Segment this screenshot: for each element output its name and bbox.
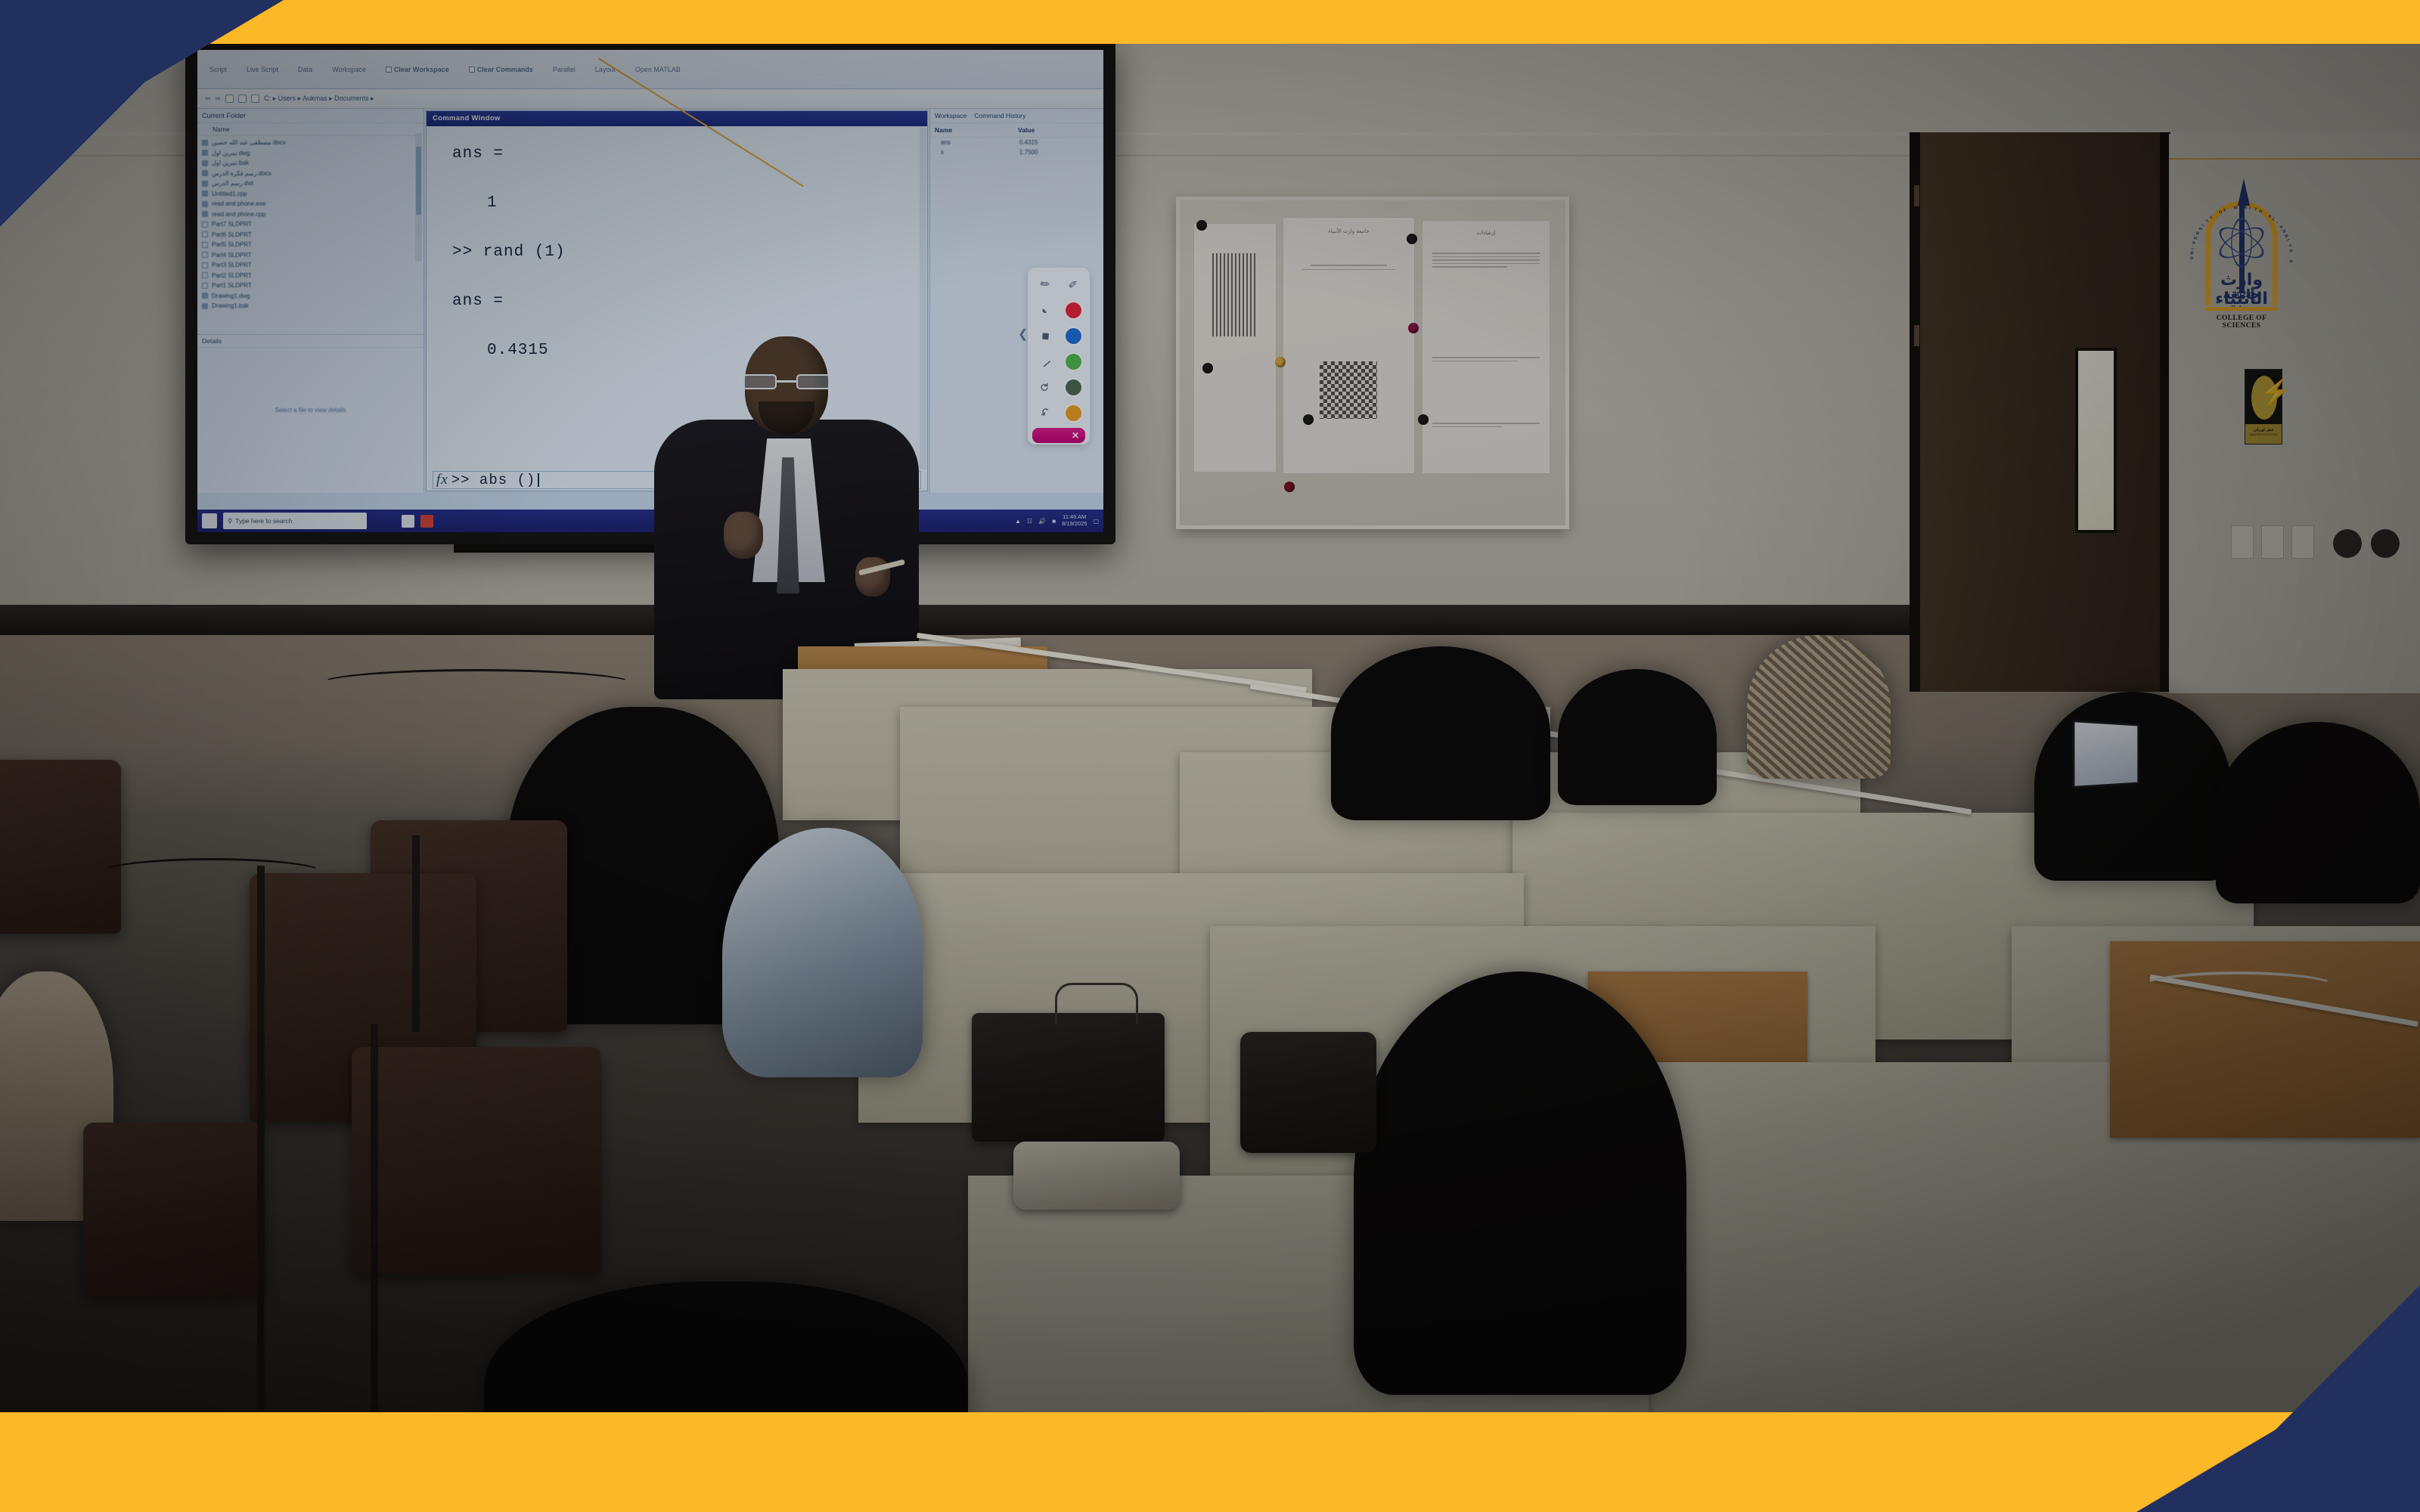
- logo-arc-char: O: [2218, 209, 2223, 215]
- file-name: Drawing1.dwg: [212, 293, 250, 299]
- university-logo: UNIVERSITY OF WARITH AL-ANBIYA A وارث ال…: [2197, 174, 2286, 336]
- highlighter-icon: ✏: [1065, 276, 1081, 293]
- poster-title: جامعة وارث الأنبياء: [1283, 228, 1414, 234]
- file-name: Part1 SLDPRT: [212, 282, 252, 289]
- file-row[interactable]: Part3 SLDPRT: [202, 260, 423, 271]
- details-title: Details: [197, 335, 423, 348]
- logo-arc-char: H: [2258, 209, 2263, 215]
- chair-leg: [371, 1024, 378, 1414]
- undo-icon: ↶: [1037, 404, 1053, 421]
- qr-code-graphic: [1320, 361, 1377, 419]
- magnet: [1284, 482, 1295, 492]
- poster-instructions: إرشادات: [1422, 220, 1550, 474]
- tissue-pack: [1013, 1142, 1180, 1210]
- logo-arc-char: I: [2201, 224, 2206, 228]
- whiteboard-with-posters: جامعة وارث الأنبياء إرشادات: [1176, 197, 1569, 529]
- instructor-hand-left: [724, 512, 763, 559]
- select-tool-button[interactable]: ⚊: [1032, 350, 1058, 373]
- logo-arc-char: S: [2198, 227, 2204, 231]
- column-name: Name: [935, 126, 1018, 134]
- poster-barcode: [1193, 223, 1277, 472]
- logo-pen-nib-icon: [2238, 178, 2250, 206]
- app-icon-matlab[interactable]: [420, 515, 433, 528]
- file-row[interactable]: Part4 SLDPRT: [202, 250, 423, 261]
- color-swatch-blue: [1066, 328, 1081, 344]
- magnet: [1408, 323, 1419, 333]
- barcode-graphic: [1212, 253, 1258, 336]
- file-icon: [202, 303, 208, 309]
- file-icon: [202, 242, 208, 248]
- magnet: [1418, 414, 1429, 425]
- frame-top-band: [0, 0, 2420, 44]
- search-icon: ⚲: [228, 517, 232, 525]
- shape-icon: ◆: [1038, 327, 1053, 343]
- bridge: [777, 380, 796, 383]
- logo-arc-char: A: [2238, 206, 2242, 210]
- file-icon: [202, 272, 208, 278]
- chair: [83, 1123, 265, 1297]
- workspace-row[interactable]: x 1.7500: [930, 147, 1103, 157]
- poster-canvas: Script Live Script Data Workspace Clear …: [0, 0, 2420, 1512]
- annotation-toolbar[interactable]: ❮ ✎ ✏ ◐ ◆ ⚊ ⟳ ↶ ✕: [1028, 268, 1090, 445]
- fx-icon[interactable]: fx: [436, 472, 448, 488]
- power-cable: [318, 669, 635, 820]
- door-hinge: [1914, 185, 1919, 206]
- color-swatch-darkgreen: [1066, 380, 1081, 395]
- tray-chevron-icon[interactable]: ▲: [1015, 518, 1021, 525]
- ribbon-item-parallel[interactable]: Parallel: [553, 66, 576, 73]
- lens-left: [742, 374, 777, 389]
- checkbox-icon: [386, 67, 392, 73]
- lens-right: [796, 374, 831, 389]
- checkbox-icon: [469, 67, 475, 73]
- system-tray[interactable]: ▲ ☷ 🔊 ■ 11:46 AM 8/19/2025 ▢: [1015, 514, 1099, 527]
- file-row[interactable]: read and phone.cpp: [202, 209, 423, 220]
- student-seated-scarf: [722, 828, 923, 1077]
- shape-tool-button[interactable]: ◆: [1032, 324, 1058, 347]
- text-line: [1432, 361, 1518, 362]
- student-seated: [1331, 646, 1550, 820]
- output-line: ans =: [452, 146, 927, 162]
- logo-arc-char: F: [2223, 208, 2227, 213]
- file-name: Drawing1.bak: [212, 302, 249, 309]
- logo-english-arc: UNIVERSITY OF WARITH AL-ANBIYA A: [2201, 209, 2282, 254]
- ribbon-item-clear-commands[interactable]: Clear Commands: [469, 66, 533, 73]
- color-orange-button[interactable]: [1060, 401, 1086, 424]
- annotation-tool-grid[interactable]: ✎ ✏ ◐ ◆ ⚊ ⟳ ↶: [1032, 273, 1085, 424]
- select-icon: ⚊: [1037, 353, 1053, 370]
- file-row[interactable]: Part5 SLDPRT: [202, 240, 423, 250]
- poster-text-lines: [1432, 253, 1539, 270]
- handbag-strap: [1055, 983, 1138, 1024]
- file-name: Part5 SLDPRT: [212, 241, 252, 248]
- start-button-icon[interactable]: [202, 513, 217, 528]
- lightning-bolt-icon: ⚡: [2260, 382, 2291, 404]
- highlighter-tool-button[interactable]: ✏: [1060, 273, 1086, 296]
- hazard-arabic: خطر كهربائي: [2245, 428, 2282, 432]
- workspace-tabs[interactable]: Workspace Command History: [930, 109, 1103, 123]
- classroom-door[interactable]: [1910, 132, 2170, 692]
- color-swatch-red: [1066, 302, 1081, 318]
- magnet: [1202, 363, 1213, 373]
- color-swatch-green: [1066, 354, 1081, 370]
- student-seated: [2034, 692, 2231, 881]
- student-laptop: [2072, 720, 2139, 789]
- logo-arc-char: R: [2195, 231, 2201, 236]
- file-name: Part4 SLDPRT: [212, 252, 252, 259]
- text-line: [1302, 269, 1395, 271]
- logo-arc-char: -: [2275, 221, 2279, 225]
- logo-college-name: COLLEGE OF SCIENCES: [2197, 314, 2286, 330]
- text-line: [1311, 265, 1388, 266]
- logo-arc-char: N: [2281, 229, 2286, 234]
- eyeglasses-icon: [742, 374, 831, 389]
- details-empty-message: Select a file to view details: [197, 407, 423, 414]
- workspace-columns[interactable]: Name Value: [930, 123, 1103, 138]
- student-seated: [1558, 669, 1717, 805]
- logo-arc-char: L: [2271, 217, 2276, 222]
- file-name: Part3 SLDPRT: [212, 262, 252, 268]
- taskbar-search-box[interactable]: ⚲ Type here to search: [223, 513, 367, 529]
- pen-tool-button[interactable]: ✎: [1032, 273, 1058, 296]
- undo-tool-button[interactable]: ↶: [1032, 401, 1058, 424]
- logo-arc-char: U: [2190, 256, 2195, 259]
- hazard-english: DANGER ELECTRIC: [2245, 432, 2282, 436]
- file-row[interactable]: Part7 SLDPRT: [202, 219, 423, 230]
- output-line: >> rand (1): [452, 244, 927, 260]
- poster-text-lines: [1432, 357, 1539, 364]
- power-cable: [98, 858, 325, 987]
- logo-arc-char: W: [2233, 206, 2238, 211]
- door-hinge: [1914, 325, 1919, 346]
- file-row[interactable]: رسم الدرس.dwl: [202, 178, 423, 189]
- wall-speaker: [2371, 529, 2400, 558]
- text-line: [1432, 256, 1539, 258]
- notifications-icon[interactable]: ▢: [1093, 518, 1099, 525]
- file-icon: [202, 252, 208, 258]
- ribbon-label: Clear Commands: [477, 66, 533, 73]
- file-icon: [202, 293, 208, 299]
- color-green-button[interactable]: [1060, 350, 1086, 373]
- logo-arc-char: A: [2278, 225, 2283, 230]
- poster-text-lines: [1294, 265, 1404, 273]
- text-line: [1432, 259, 1539, 261]
- tray-network-icon[interactable]: ☷: [1027, 518, 1032, 525]
- color-blue-button[interactable]: [1060, 324, 1086, 347]
- file-row[interactable]: رسم فكرة الدرس.docx: [202, 169, 423, 179]
- electrical-hazard-sign: ⚡ خطر كهربائي DANGER ELECTRIC: [2245, 369, 2282, 445]
- variable-value: 0.4315: [1019, 139, 1038, 146]
- text-line: [1432, 266, 1507, 268]
- logo-arc-char: T: [2205, 218, 2211, 224]
- taskbar-apps[interactable]: [402, 515, 433, 528]
- color-red-button[interactable]: [1060, 299, 1086, 321]
- door-vision-panel: [2075, 348, 2117, 533]
- magnet: [1275, 357, 1286, 367]
- file-row[interactable]: Part6 SLDPRT: [202, 230, 423, 240]
- wall-socket: [2291, 525, 2314, 559]
- file-icon: [202, 231, 208, 237]
- ribbon-item-clear-workspace[interactable]: Clear Workspace: [386, 66, 449, 73]
- variable-value: 1.7500: [1019, 149, 1038, 156]
- backpack: [1240, 1032, 1376, 1153]
- app-icon-explorer[interactable]: [402, 515, 414, 528]
- variable-name: ans: [941, 139, 1019, 146]
- command-input-text: >> abs (): [451, 472, 536, 488]
- charger-cable: [2140, 971, 2337, 1198]
- logo-underline-bar: [2205, 307, 2278, 311]
- matlab-ribbon[interactable]: Script Live Script Data Workspace Clear …: [197, 50, 1103, 89]
- column-value: Value: [1018, 126, 1035, 134]
- eraser-icon: ◐: [1038, 303, 1052, 318]
- wall-speaker: [2333, 529, 2362, 558]
- file-row[interactable]: Part2 SLDPRT: [202, 271, 423, 281]
- logo-arc-char: I: [2249, 206, 2251, 211]
- collapse-toolbar-icon[interactable]: ❮: [1018, 327, 1028, 342]
- ribbon-item-open-matlab[interactable]: Open MATLAB: [635, 66, 681, 73]
- scrollbar-thumb[interactable]: [416, 147, 421, 215]
- wall-socket: [2261, 525, 2284, 559]
- tab-command-history[interactable]: Command History: [974, 112, 1025, 119]
- file-row[interactable]: Part1 SLDPRT: [202, 280, 423, 291]
- logo-arc-char: T: [2254, 207, 2257, 212]
- chair-leg: [412, 835, 420, 1032]
- variable-name: x: [941, 149, 1019, 156]
- handbag: [972, 1013, 1165, 1142]
- file-name: Part6 SLDPRT: [212, 231, 252, 238]
- ribbon-item-workspace[interactable]: Workspace: [332, 66, 366, 73]
- clear-tool-button[interactable]: ⟳: [1032, 376, 1058, 398]
- ribbon-label: Clear Workspace: [394, 66, 449, 73]
- hazard-caption: خطر كهربائي DANGER ELECTRIC: [2245, 424, 2282, 444]
- eraser-tool-button[interactable]: ◐: [1032, 299, 1058, 321]
- lecture-hall-photo: Script Live Script Data Workspace Clear …: [0, 42, 2420, 1414]
- magnet: [1303, 414, 1314, 425]
- command-window-title: Command Window: [427, 111, 927, 126]
- clear-icon: ⟳: [1037, 379, 1053, 395]
- logo-arc-char: R: [2244, 206, 2247, 210]
- chair: [352, 1047, 601, 1274]
- tray-battery-icon[interactable]: ■: [1052, 518, 1056, 525]
- file-row[interactable]: Untitled1.cpp: [202, 189, 423, 200]
- student-seated: [2216, 722, 2420, 903]
- poster-text: جامعة وارث الأنبياء: [1283, 217, 1415, 474]
- magnet: [1196, 220, 1207, 231]
- tab-workspace[interactable]: Workspace: [935, 112, 966, 119]
- color-swatch-orange: [1066, 405, 1081, 421]
- logo-arc-char: Y: [2209, 215, 2214, 221]
- logo-arc-char: A: [2288, 259, 2293, 262]
- file-row[interactable]: read and phone.exe: [202, 199, 423, 209]
- ribbon-item-data[interactable]: Data: [298, 66, 312, 73]
- pen-icon: ✎: [1037, 276, 1053, 293]
- tray-volume-icon[interactable]: 🔊: [1038, 518, 1046, 525]
- file-icon: [202, 262, 208, 268]
- current-folder-scrollbar[interactable]: [415, 133, 422, 262]
- text-line: [1432, 357, 1539, 358]
- clock-date: 8/19/2025: [1062, 521, 1087, 528]
- text-line: [1432, 426, 1500, 428]
- output-line: 1: [452, 195, 927, 211]
- frame-bottom-band: [0, 1412, 2420, 1512]
- frame-corner-triangle-bottom-right-inner: [2136, 1344, 2420, 1512]
- text-line: [1432, 423, 1539, 424]
- logo-year: 2023: [2197, 290, 2286, 299]
- poster-text-lines: [1432, 423, 1539, 429]
- details-panel: Details Select a file to view details: [197, 334, 423, 493]
- frame-corner-triangle-top-left-inner: [0, 0, 284, 168]
- wall-trim-line: [2169, 158, 2420, 160]
- magnet: [1407, 234, 1417, 244]
- logo-arc-char: N: [2190, 251, 2195, 254]
- file-icon: [202, 283, 208, 289]
- student-seated-patterned-hijab: [1747, 635, 1891, 779]
- text-line: [1432, 263, 1539, 265]
- wall-socket: [2231, 525, 2254, 559]
- color-darkgreen-button[interactable]: [1060, 376, 1086, 398]
- close-toolbar-button[interactable]: ✕: [1032, 428, 1085, 443]
- output-line: ans =: [452, 293, 927, 309]
- file-row[interactable]: Drawing1.bak: [202, 301, 423, 311]
- student-seated: [1354, 971, 1686, 1395]
- file-name: Part2 SLDPRT: [212, 272, 252, 279]
- text-line: [1432, 253, 1539, 254]
- poster-title: إرشادات: [1423, 230, 1550, 236]
- file-row[interactable]: Drawing1.dwg: [202, 291, 423, 302]
- workspace-row[interactable]: ans 0.4315: [930, 138, 1103, 147]
- search-placeholder: Type here to search: [235, 517, 292, 525]
- taskbar-clock[interactable]: 11:46 AM 8/19/2025: [1062, 514, 1087, 527]
- text-caret: [538, 473, 539, 487]
